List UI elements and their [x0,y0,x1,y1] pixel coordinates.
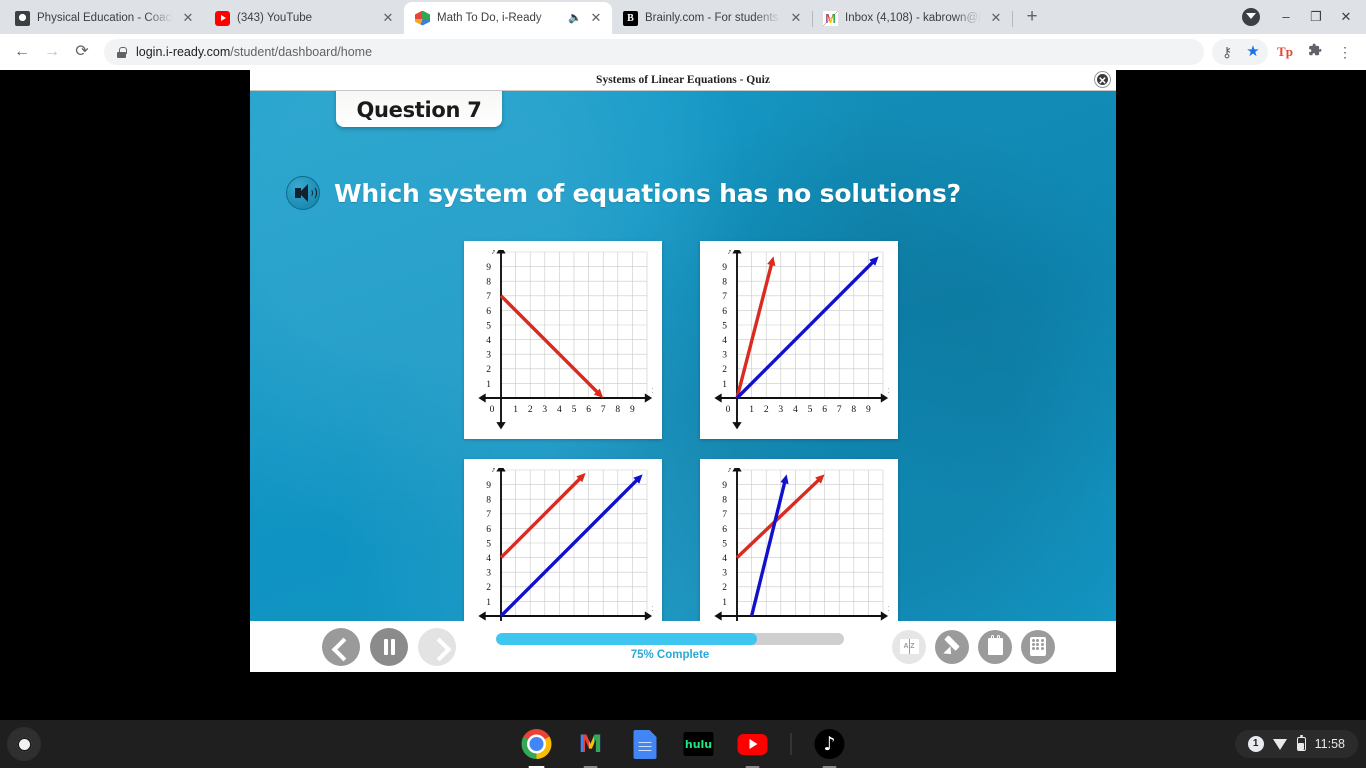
quiz-footer-toolbar: 75% Complete A Z [250,621,1116,672]
svg-text:6: 6 [822,405,827,415]
svg-text:4: 4 [557,405,562,415]
svg-text:2: 2 [722,365,727,375]
svg-text:3: 3 [722,351,727,361]
audio-speaker-icon[interactable] [286,176,320,210]
extension-tp-icon[interactable]: Tp [1272,39,1298,65]
tab-title: Math To Do, i-Ready [437,12,561,24]
chrome-icon [522,729,552,759]
svg-text:9: 9 [486,263,491,273]
window-controls: – ❐ ✕ [1242,4,1360,30]
launcher-icon[interactable] [7,727,41,761]
shelf-separator [791,733,792,755]
svg-text:6: 6 [486,307,491,317]
svg-text:3: 3 [486,351,491,361]
question-text: Which system of equations has no solutio… [334,179,961,208]
chrome-menu-icon[interactable]: ⋮ [1332,39,1358,65]
question-number-tab: Question 7 [336,91,502,127]
tab-title: Physical Education - Coach D [37,12,173,24]
iready-quiz-window: Systems of Linear Equations - Quiz ✕ Que… [250,70,1116,672]
page-viewport: Systems of Linear Equations - Quiz ✕ Que… [0,70,1366,720]
back-button[interactable]: ← [8,38,36,66]
svg-text:y: y [492,468,497,472]
tab-title: Inbox (4,108) - kabrown@islst [845,12,981,24]
svg-text:1: 1 [486,380,491,390]
chrome-browser-window: Physical Education - Coach D ✕ (343) You… [0,0,1366,720]
chrome-app[interactable] [521,728,553,760]
svg-text:3: 3 [722,569,727,579]
quiz-nav-buttons [322,628,456,666]
graph-c: xy0123456789123456789 [473,468,653,621]
progress-label: 75% Complete [496,649,844,661]
svg-text:2: 2 [528,405,533,415]
speaker-muted-icon[interactable]: 🔈 [568,10,581,26]
answer-choice-c[interactable]: xy0123456789123456789 [464,459,662,621]
svg-text:8: 8 [486,496,491,506]
next-question-button[interactable] [418,628,456,666]
url-domain: login.i-ready.com [136,45,230,59]
svg-text:y: y [728,468,733,472]
svg-text:6: 6 [722,307,727,317]
quiz-title-bar: Systems of Linear Equations - Quiz ✕ [250,70,1116,91]
youtube-app[interactable] [737,728,769,760]
chromeos-shelf: M hulu ♪ 1 11:58 [0,720,1366,768]
browser-tab-3[interactable]: B Brainly.com - For students. By ✕ [612,2,812,34]
svg-text:8: 8 [615,405,620,415]
calculator-tool-icon[interactable] [1021,630,1055,664]
tab-separator [1012,11,1013,27]
svg-text:1: 1 [722,598,727,608]
notification-count-badge: 1 [1248,736,1264,752]
password-key-icon[interactable]: ⚷ [1214,39,1240,65]
svg-text:x: x [652,385,653,395]
pencil-tool-icon[interactable] [935,630,969,664]
svg-text:x: x [652,603,653,613]
tab-close-icon[interactable]: ✕ [380,10,396,26]
svg-text:x: x [888,385,889,395]
tab-close-icon[interactable]: ✕ [988,10,1004,26]
answer-choice-a[interactable]: xy0123456789123456789 [464,241,662,439]
previous-question-button[interactable] [322,628,360,666]
svg-text:8: 8 [851,405,856,415]
svg-text:y: y [728,250,733,254]
svg-text:2: 2 [486,365,491,375]
svg-text:6: 6 [486,525,491,535]
browser-tab-4[interactable]: Inbox (4,108) - kabrown@islst ✕ [812,2,1012,34]
tiktok-app[interactable]: ♪ [814,728,846,760]
gmail-app[interactable]: M [575,728,607,760]
extensions-puzzle-icon[interactable] [1302,39,1328,65]
svg-text:9: 9 [722,481,727,491]
svg-text:1: 1 [513,405,518,415]
svg-text:9: 9 [722,263,727,273]
dictionary-tool-icon[interactable]: A Z [892,630,926,664]
svg-text:9: 9 [866,405,871,415]
answer-choice-d[interactable]: xy0123456789123456789 [700,459,898,621]
svg-text:3: 3 [542,405,547,415]
tab-close-icon[interactable]: ✕ [788,10,804,26]
question-number-label: Question 7 [356,98,481,122]
omnibox-actions: ⚷ ★ [1212,39,1268,65]
svg-text:1: 1 [749,405,754,415]
quiz-content: Question 7 Which system of equations has… [250,91,1116,621]
svg-text:x: x [888,603,889,613]
person-badge-icon [15,11,30,26]
wifi-icon [1273,738,1288,750]
pause-button[interactable] [370,628,408,666]
svg-text:0: 0 [490,405,495,415]
svg-text:y: y [492,250,497,254]
shelf-app-list: M hulu ♪ [521,728,846,760]
svg-text:4: 4 [486,554,491,564]
tab-title: Brainly.com - For students. By [645,12,781,24]
svg-text:5: 5 [808,405,813,415]
system-tray[interactable]: 1 11:58 [1235,730,1358,758]
toolbar-icons: ⚷ ★ Tp ⋮ [1212,39,1358,65]
youtube-icon [215,11,230,26]
quiz-tool-buttons: A Z [892,630,1055,664]
youtube-icon [738,734,768,755]
svg-text:8: 8 [722,278,727,288]
svg-text:1: 1 [486,598,491,608]
maximize-button[interactable]: ❐ [1302,4,1330,30]
tab-title: (343) YouTube [237,12,373,24]
answer-choice-b[interactable]: xy0123456789123456789 [700,241,898,439]
progress-bar-fill [496,633,757,645]
battery-icon [1297,737,1306,751]
browser-toolbar: ← → ⟳ login.i-ready.com/student/dashboar… [0,34,1366,70]
svg-text:5: 5 [486,321,491,331]
svg-text:7: 7 [486,292,491,302]
svg-text:3: 3 [778,405,783,415]
notepad-tool-icon[interactable] [978,630,1012,664]
google-docs-icon [633,730,656,759]
svg-text:7: 7 [722,292,727,302]
svg-text:4: 4 [793,405,798,415]
graph-d: xy0123456789123456789 [709,468,889,621]
svg-text:6: 6 [586,405,591,415]
address-bar-url: login.i-ready.com/student/dashboard/home [136,45,372,59]
address-bar[interactable]: login.i-ready.com/student/dashboard/home [104,39,1204,65]
tiktok-icon: ♪ [815,729,845,759]
svg-text:2: 2 [764,405,769,415]
svg-text:9: 9 [630,405,635,415]
svg-text:0: 0 [726,405,731,415]
bookmark-star-icon[interactable]: ★ [1240,39,1266,65]
svg-text:5: 5 [722,539,727,549]
svg-text:3: 3 [486,569,491,579]
svg-text:4: 4 [486,336,491,346]
minimize-button[interactable]: – [1272,4,1300,30]
quiz-progress: 75% Complete [496,633,844,661]
svg-text:4: 4 [722,336,727,346]
hulu-icon: hulu [684,732,714,756]
url-path: /student/dashboard/home [230,45,372,59]
svg-text:7: 7 [837,405,842,415]
clock-label: 11:58 [1315,737,1345,751]
answer-choices-grid: xy0123456789123456789 xy0123456789123456… [464,241,918,621]
dictionary-letters: A Z [903,643,914,650]
svg-text:4: 4 [722,554,727,564]
svg-text:6: 6 [722,525,727,535]
svg-text:2: 2 [486,583,491,593]
browser-tab-1[interactable]: (343) YouTube ✕ [204,2,404,34]
svg-text:1: 1 [722,380,727,390]
svg-text:7: 7 [601,405,606,415]
svg-text:9: 9 [486,481,491,491]
close-window-button[interactable]: ✕ [1332,4,1360,30]
forward-button[interactable]: → [38,38,66,66]
iready-cube-icon [415,11,430,26]
tab-close-icon[interactable]: ✕ [588,10,604,26]
profile-avatar[interactable] [1242,8,1260,26]
browser-tab-0[interactable]: Physical Education - Coach D ✕ [4,2,204,34]
question-prompt-row: Which system of equations has no solutio… [286,176,961,210]
svg-text:7: 7 [486,510,491,520]
svg-text:5: 5 [722,321,727,331]
svg-text:5: 5 [572,405,577,415]
reload-button[interactable]: ⟳ [68,38,96,66]
browser-tab-2[interactable]: Math To Do, i-Ready 🔈 ✕ [404,2,612,34]
progress-bar-track [496,633,844,645]
graph-b: xy0123456789123456789 [709,250,889,430]
docs-app[interactable] [629,728,661,760]
tab-strip: Physical Education - Coach D ✕ (343) You… [0,0,1366,34]
lock-icon [116,47,127,58]
quiz-window-title: Systems of Linear Equations - Quiz [596,74,770,86]
gmail-icon: M [577,733,605,755]
svg-text:2: 2 [722,583,727,593]
hulu-app[interactable]: hulu [683,728,715,760]
svg-text:8: 8 [486,278,491,288]
tab-close-icon[interactable]: ✕ [180,10,196,26]
svg-text:5: 5 [486,539,491,549]
svg-text:7: 7 [722,510,727,520]
brainly-icon: B [623,11,638,26]
gmail-icon [823,11,838,26]
quiz-close-button[interactable]: ✕ [1095,72,1110,87]
new-tab-button[interactable]: + [1018,4,1046,32]
graph-a: xy0123456789123456789 [473,250,653,430]
svg-text:8: 8 [722,496,727,506]
